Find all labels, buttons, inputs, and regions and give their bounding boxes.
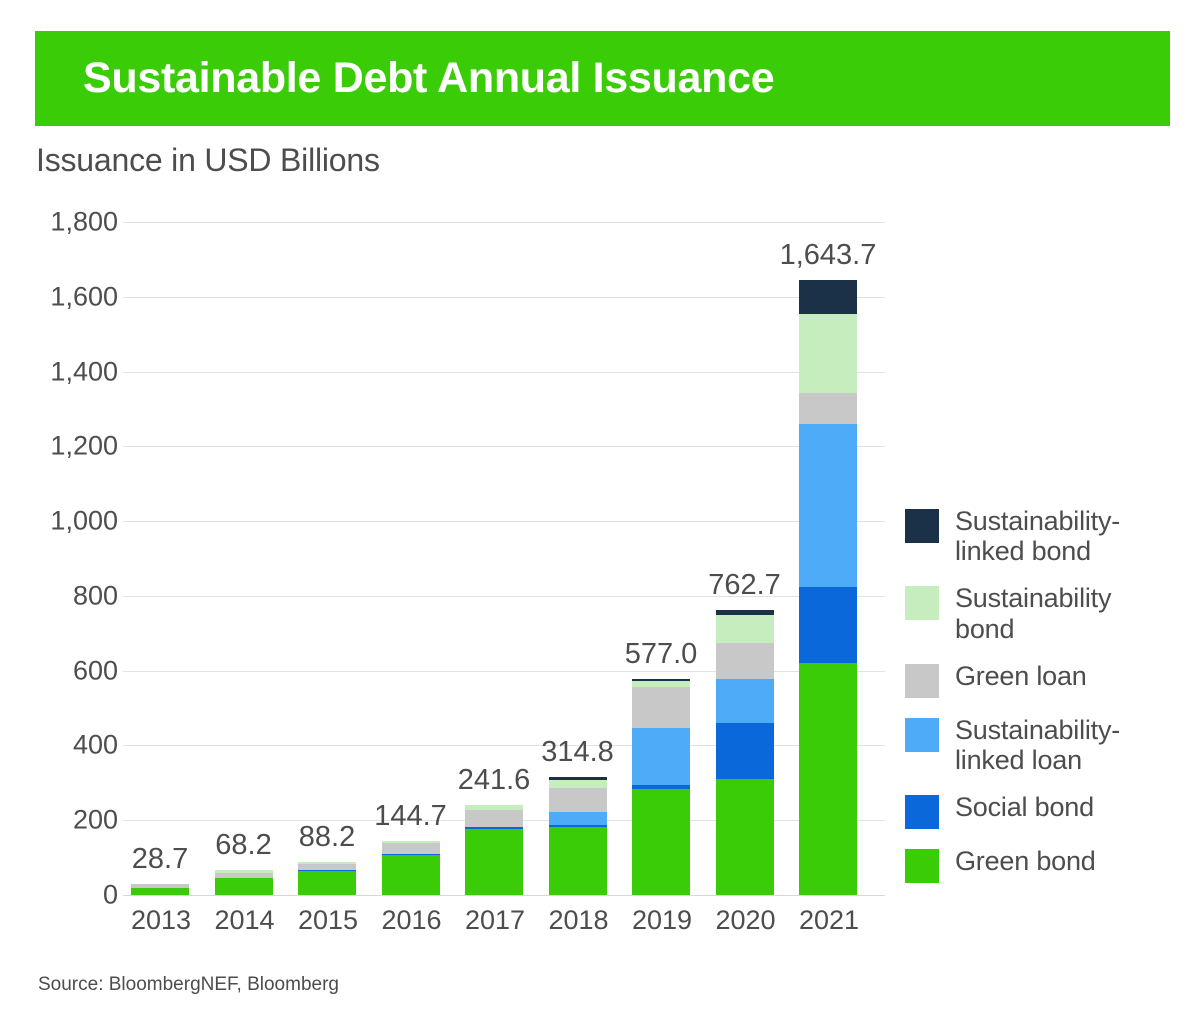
- bar-segment-sustainability-bond[interactable]: [549, 780, 607, 789]
- bar-segment-sustainability-linked-loan[interactable]: [716, 679, 774, 723]
- y-axis-tick-label: 1,600: [36, 281, 118, 312]
- legend-item-sustainability-linked-loan[interactable]: Sustainability-linked loan: [905, 715, 1195, 775]
- x-axis-tick-label: 2017: [465, 905, 523, 936]
- bar-segment-green-bond[interactable]: [799, 663, 857, 895]
- bar-segment-green-bond[interactable]: [131, 888, 189, 896]
- bar-segment-green-loan[interactable]: [382, 843, 440, 853]
- legend-swatch-icon: [905, 664, 939, 698]
- gridline: [123, 521, 885, 522]
- bar-group-2014[interactable]: 68.22014: [215, 870, 273, 895]
- bar-segment-sustainability-linked-loan[interactable]: [632, 728, 690, 785]
- chart-legend: Sustainability-linked bondSustainability…: [905, 506, 1195, 900]
- bar-group-2018[interactable]: 314.82018: [549, 777, 607, 895]
- stacked-bar[interactable]: [382, 841, 440, 895]
- x-axis-tick-label: 2021: [799, 905, 857, 936]
- bar-group-2019[interactable]: 577.02019: [632, 679, 690, 895]
- bar-group-2020[interactable]: 762.72020: [716, 610, 774, 895]
- bar-segment-social-bond[interactable]: [716, 723, 774, 779]
- legend-label: Green loan: [955, 661, 1087, 691]
- legend-item-sustainability-linked-bond[interactable]: Sustainability-linked bond: [905, 506, 1195, 566]
- bar-segment-green-loan[interactable]: [549, 788, 607, 812]
- x-axis-tick-label: 2013: [131, 905, 189, 936]
- legend-item-green-loan[interactable]: Green loan: [905, 661, 1195, 698]
- legend-swatch-icon: [905, 509, 939, 543]
- legend-swatch-icon: [905, 718, 939, 752]
- x-axis-tick-label: 2020: [716, 905, 774, 936]
- legend-swatch-icon: [905, 795, 939, 829]
- stacked-bar[interactable]: [215, 870, 273, 895]
- bar-segment-green-bond[interactable]: [716, 779, 774, 895]
- stacked-bar[interactable]: [799, 280, 857, 895]
- legend-item-green-bond[interactable]: Green bond: [905, 846, 1195, 883]
- legend-label: Sustainabilitybond: [955, 583, 1111, 643]
- stacked-bar[interactable]: [298, 862, 356, 895]
- bar-group-2017[interactable]: 241.62017: [465, 805, 523, 895]
- y-axis-tick-label: 1,000: [36, 506, 118, 537]
- bar-segment-green-loan[interactable]: [632, 687, 690, 727]
- bar-segment-sustainability-bond[interactable]: [799, 314, 857, 393]
- legend-swatch-icon: [905, 586, 939, 620]
- gridline: [123, 446, 885, 447]
- legend-item-social-bond[interactable]: Social bond: [905, 792, 1195, 829]
- bar-group-2013[interactable]: 28.72013: [131, 884, 189, 895]
- bar-segment-green-bond[interactable]: [382, 855, 440, 895]
- bar-group-2016[interactable]: 144.72016: [382, 841, 440, 895]
- legend-label: Social bond: [955, 792, 1094, 822]
- source-note: Source: BloombergNEF, Bloomberg: [38, 974, 339, 996]
- y-axis-tick-label: 1,800: [36, 207, 118, 238]
- bar-segment-green-loan[interactable]: [716, 643, 774, 679]
- legend-label: Sustainability-linked loan: [955, 715, 1120, 775]
- y-axis-tick-label: 1,400: [36, 356, 118, 387]
- y-axis-tick-label: 400: [36, 730, 118, 761]
- x-axis-tick-label: 2015: [298, 905, 356, 936]
- bar-segment-green-bond[interactable]: [549, 827, 607, 895]
- y-axis-tick-label: 800: [36, 580, 118, 611]
- bar-segment-green-bond[interactable]: [215, 878, 273, 895]
- bar-segment-green-loan[interactable]: [298, 864, 356, 871]
- x-axis-tick-label: 2016: [382, 905, 440, 936]
- gridline: [123, 297, 885, 298]
- gridline: [123, 222, 885, 223]
- bar-group-2021[interactable]: 1,643.72021: [799, 280, 857, 895]
- stacked-bar[interactable]: [131, 884, 189, 895]
- stacked-bar[interactable]: [549, 777, 607, 895]
- gridline: [123, 895, 885, 896]
- bar-segment-green-bond[interactable]: [632, 789, 690, 895]
- y-axis-tick-label: 0: [36, 880, 118, 911]
- stacked-bar[interactable]: [465, 805, 523, 895]
- bar-segment-sustainability-linked-loan[interactable]: [549, 812, 607, 824]
- bar-segment-social-bond[interactable]: [799, 587, 857, 663]
- legend-item-sustainability-bond[interactable]: Sustainabilitybond: [905, 583, 1195, 643]
- bar-segment-sustainability-bond[interactable]: [716, 615, 774, 643]
- legend-label: Sustainability-linked bond: [955, 506, 1120, 566]
- y-axis-tick-label: 600: [36, 655, 118, 686]
- bar-segment-green-loan[interactable]: [465, 810, 523, 826]
- bar-segment-green-bond[interactable]: [298, 871, 356, 895]
- legend-label: Green bond: [955, 846, 1096, 876]
- bar-group-2015[interactable]: 88.22015: [298, 862, 356, 895]
- bar-segment-sustainability-linked-bond[interactable]: [799, 280, 857, 314]
- x-axis-tick-label: 2018: [549, 905, 607, 936]
- x-axis-tick-label: 2014: [215, 905, 273, 936]
- x-axis-tick-label: 2019: [632, 905, 690, 936]
- y-axis-tick-label: 1,200: [36, 431, 118, 462]
- y-axis-tick-label: 200: [36, 805, 118, 836]
- bar-segment-sustainability-linked-loan[interactable]: [799, 424, 857, 587]
- bar-value-label: 1,643.7: [748, 239, 908, 272]
- stacked-bar[interactable]: [632, 679, 690, 895]
- stacked-bar[interactable]: [716, 610, 774, 895]
- bar-segment-green-loan[interactable]: [799, 393, 857, 424]
- gridline: [123, 372, 885, 373]
- bar-segment-green-bond[interactable]: [465, 829, 523, 895]
- legend-swatch-icon: [905, 849, 939, 883]
